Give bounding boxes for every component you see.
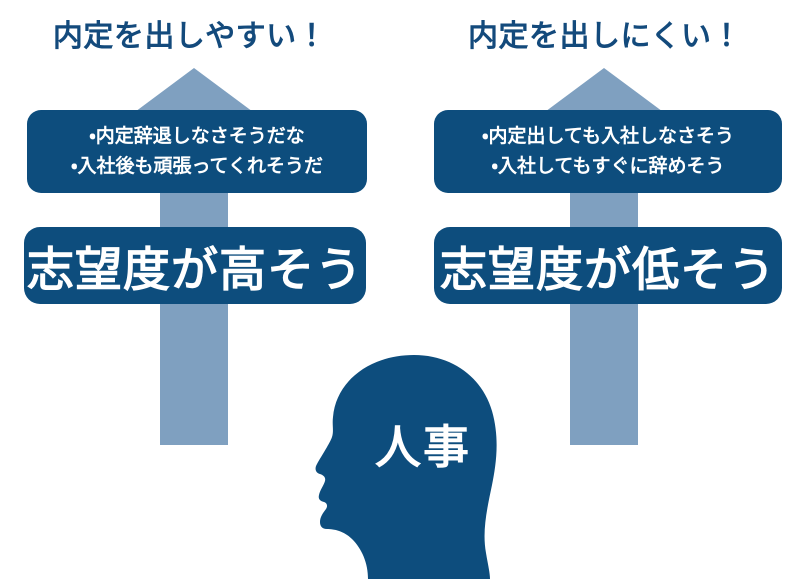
heading-hard-to-offer: 内定を出しにくい！ [405,18,800,56]
bullet-box-right: ・内定出しても入社しなさそう ・入社してもすぐに辞めそう [434,110,782,193]
label-box-high-interest: 志望度が高そう [24,227,366,304]
head-silhouette-shape [316,355,497,579]
bullet-item: ・入社してもすぐに辞めそう [492,152,725,181]
head-profile-icon [300,345,530,579]
bullet-box-left: ・内定辞退しなさそうだな ・入社後も頑張ってくれそうだ [27,110,367,193]
bullet-item: ・内定出しても入社しなさそう [482,122,734,151]
bullet-item: ・入社後も頑張ってくれそうだ [71,152,323,181]
bullet-item: ・内定辞退しなさそうだな [89,122,304,151]
label-box-low-interest: 志望度が低そう [434,227,782,304]
heading-easy-to-offer: 内定を出しやすい！ [0,18,390,56]
diagram-canvas: 内定を出しやすい！ 内定を出しにくい！ ・内定辞退しなさそうだな ・入社後も頑張… [0,0,800,579]
